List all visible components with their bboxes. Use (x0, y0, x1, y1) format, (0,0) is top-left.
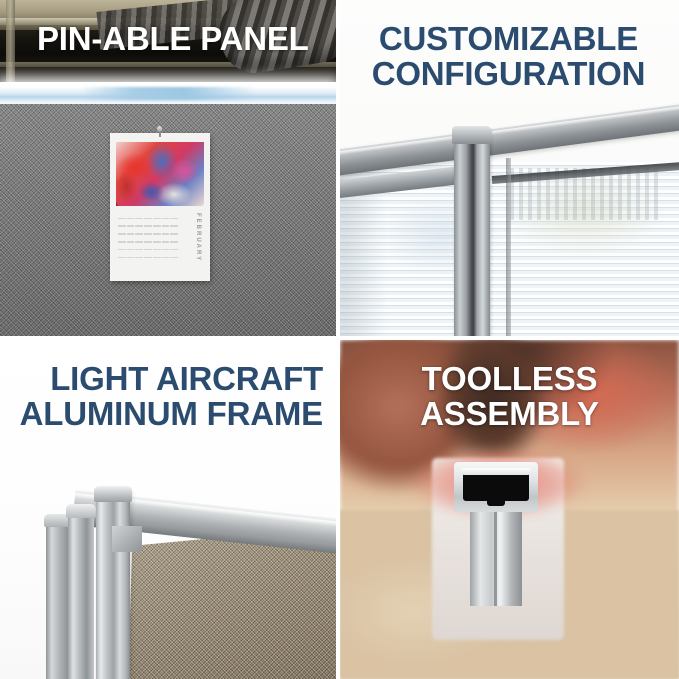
calendar-month-label: FEBRUARY (195, 213, 201, 262)
panel-light-aircraft-aluminum-frame: LIGHT AIRCRAFT ALUMINUM FRAME (0, 340, 336, 679)
fluorescent-light-strip-icon (0, 82, 336, 106)
pushpin-icon (155, 126, 164, 137)
aluminum-post-middle-cap (66, 504, 96, 518)
panel-pin-able-panel: FEBRUARY PIN-ABLE PANEL (0, 0, 336, 336)
caption-pin-able-panel: PIN-ABLE PANEL (37, 22, 327, 57)
aluminum-post-middle (68, 510, 94, 679)
caption-toolless-assembly: TOOLLESS ASSEMBLY (340, 362, 679, 431)
extrusion-slot-cavity (463, 471, 529, 501)
panel-customizable-configuration: CUSTOMIZABLE CONFIGURATION (340, 0, 679, 336)
aluminum-post-front (96, 492, 130, 679)
aluminum-post-rear (46, 520, 70, 679)
ceiling-pillar-icon (6, 0, 15, 86)
calendar-artwork-image (116, 142, 204, 206)
extrusion-head (454, 462, 538, 512)
feature-grid: FEBRUARY PIN-ABLE PANEL CUSTOMIZABLE CON… (0, 0, 679, 679)
aluminum-post-front-cap (94, 486, 132, 502)
caption-light-aircraft-aluminum-frame: LIGHT AIRCRAFT ALUMINUM FRAME (0, 362, 336, 431)
aluminum-post-cap (452, 126, 492, 144)
panel-toolless-assembly: TOOLLESS ASSEMBLY (340, 340, 679, 679)
extrusion-body (470, 510, 522, 606)
aluminum-corner-post (454, 130, 490, 336)
calendar-date-grid (118, 215, 178, 261)
aluminum-extrusion-channel (454, 462, 538, 554)
extrusion-lip (461, 468, 531, 475)
glass-mullion (506, 158, 511, 336)
frame-corner-joint (112, 526, 142, 552)
pinned-calendar: FEBRUARY (110, 133, 210, 281)
caption-customizable-configuration: CUSTOMIZABLE CONFIGURATION (340, 22, 679, 91)
